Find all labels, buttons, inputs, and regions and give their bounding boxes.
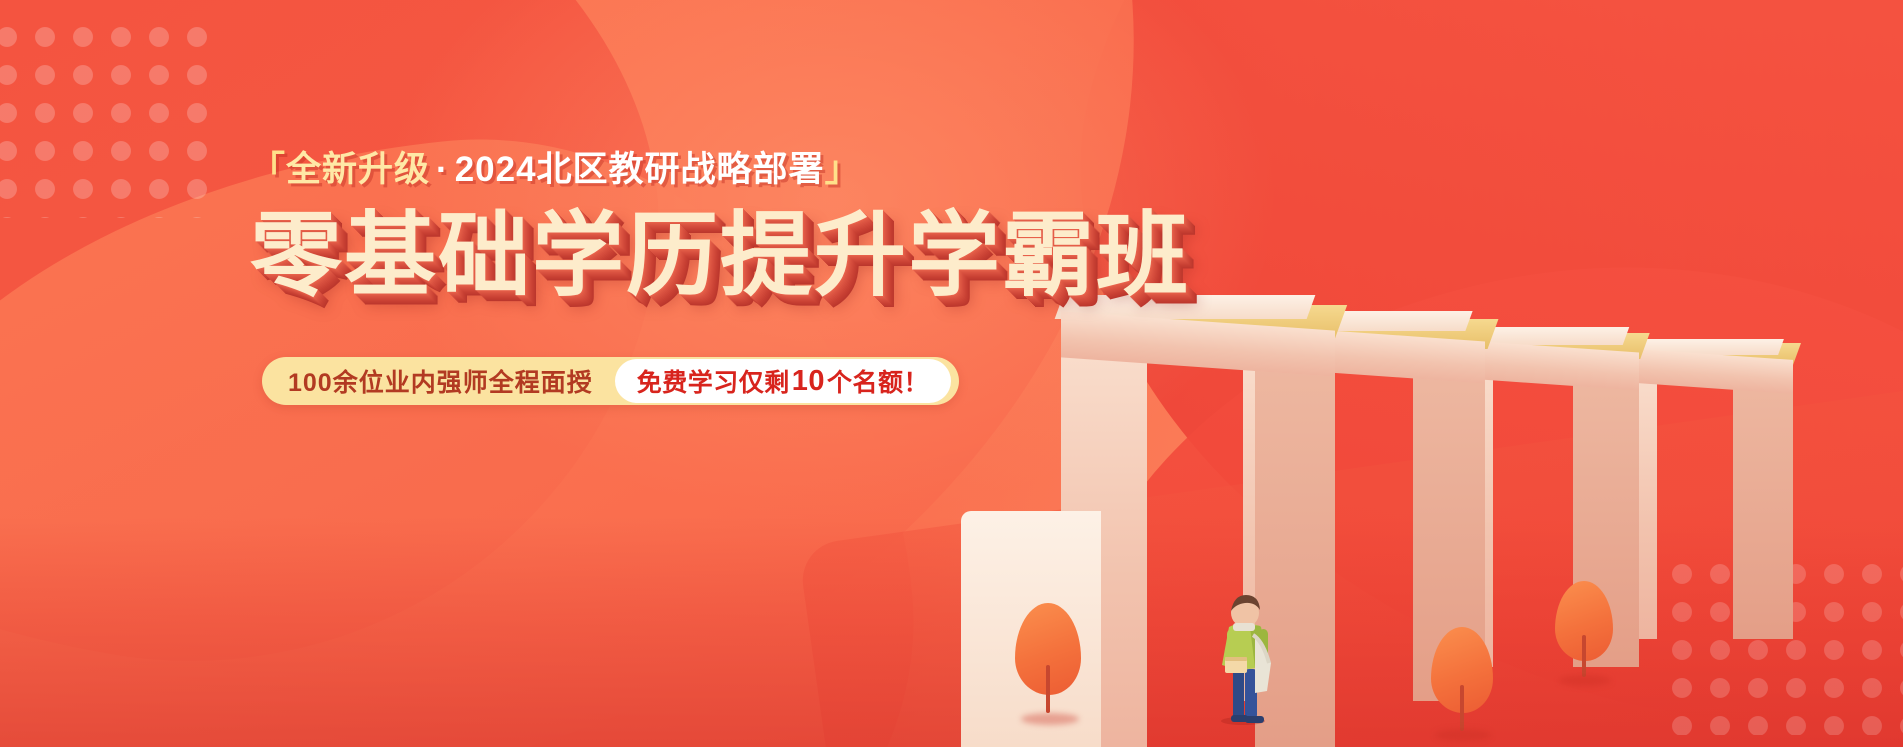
banner-feature-pill: 100余位业内强师全程面授 免费学习仅剩10个名额！ xyxy=(262,357,959,405)
subtitle-separator: · xyxy=(430,150,455,189)
badge-suffix: 个名额！ xyxy=(827,363,929,399)
banner-text-block: 「全新升级·2024北区教研战略部署」 零基础学历提升学霸班 xyxy=(250,148,1010,305)
pill-label: 100余位业内强师全程面授 xyxy=(288,363,615,399)
tree-left-shadow xyxy=(1021,713,1079,725)
tree-middle-trunk xyxy=(1460,685,1464,731)
tree-left-trunk xyxy=(1046,665,1050,713)
tree-left xyxy=(1015,603,1081,723)
gate-4-right-leg xyxy=(1733,363,1793,639)
badge-number: 10 xyxy=(790,365,827,398)
limited-seats-badge: 免费学习仅剩10个名额！ xyxy=(615,359,951,403)
student-figure xyxy=(1203,585,1287,725)
subtitle-open-bracket: 「 xyxy=(250,150,286,189)
dot-pattern-top-left xyxy=(0,18,218,218)
subtitle-rest: 2024北区教研战略部署 xyxy=(455,150,825,189)
banner-subtitle: 「全新升级·2024北区教研战略部署」 xyxy=(250,148,1010,192)
tree-right-trunk xyxy=(1582,635,1586,677)
promo-banner: 「全新升级·2024北区教研战略部署」 零基础学历提升学霸班 100余位业内强师… xyxy=(0,0,1903,747)
subtitle-close-bracket: 」 xyxy=(825,150,861,189)
subtitle-highlight: 全新升级 xyxy=(286,150,430,189)
tree-right-shadow xyxy=(1559,675,1611,686)
tree-middle-shadow xyxy=(1435,729,1491,741)
badge-prefix: 免费学习仅剩 xyxy=(637,363,790,399)
tree-right xyxy=(1555,581,1613,685)
banner-title: 零基础学历提升学霸班 xyxy=(250,208,1010,306)
tree-middle xyxy=(1431,627,1493,739)
student-figure-svg xyxy=(1203,585,1287,725)
